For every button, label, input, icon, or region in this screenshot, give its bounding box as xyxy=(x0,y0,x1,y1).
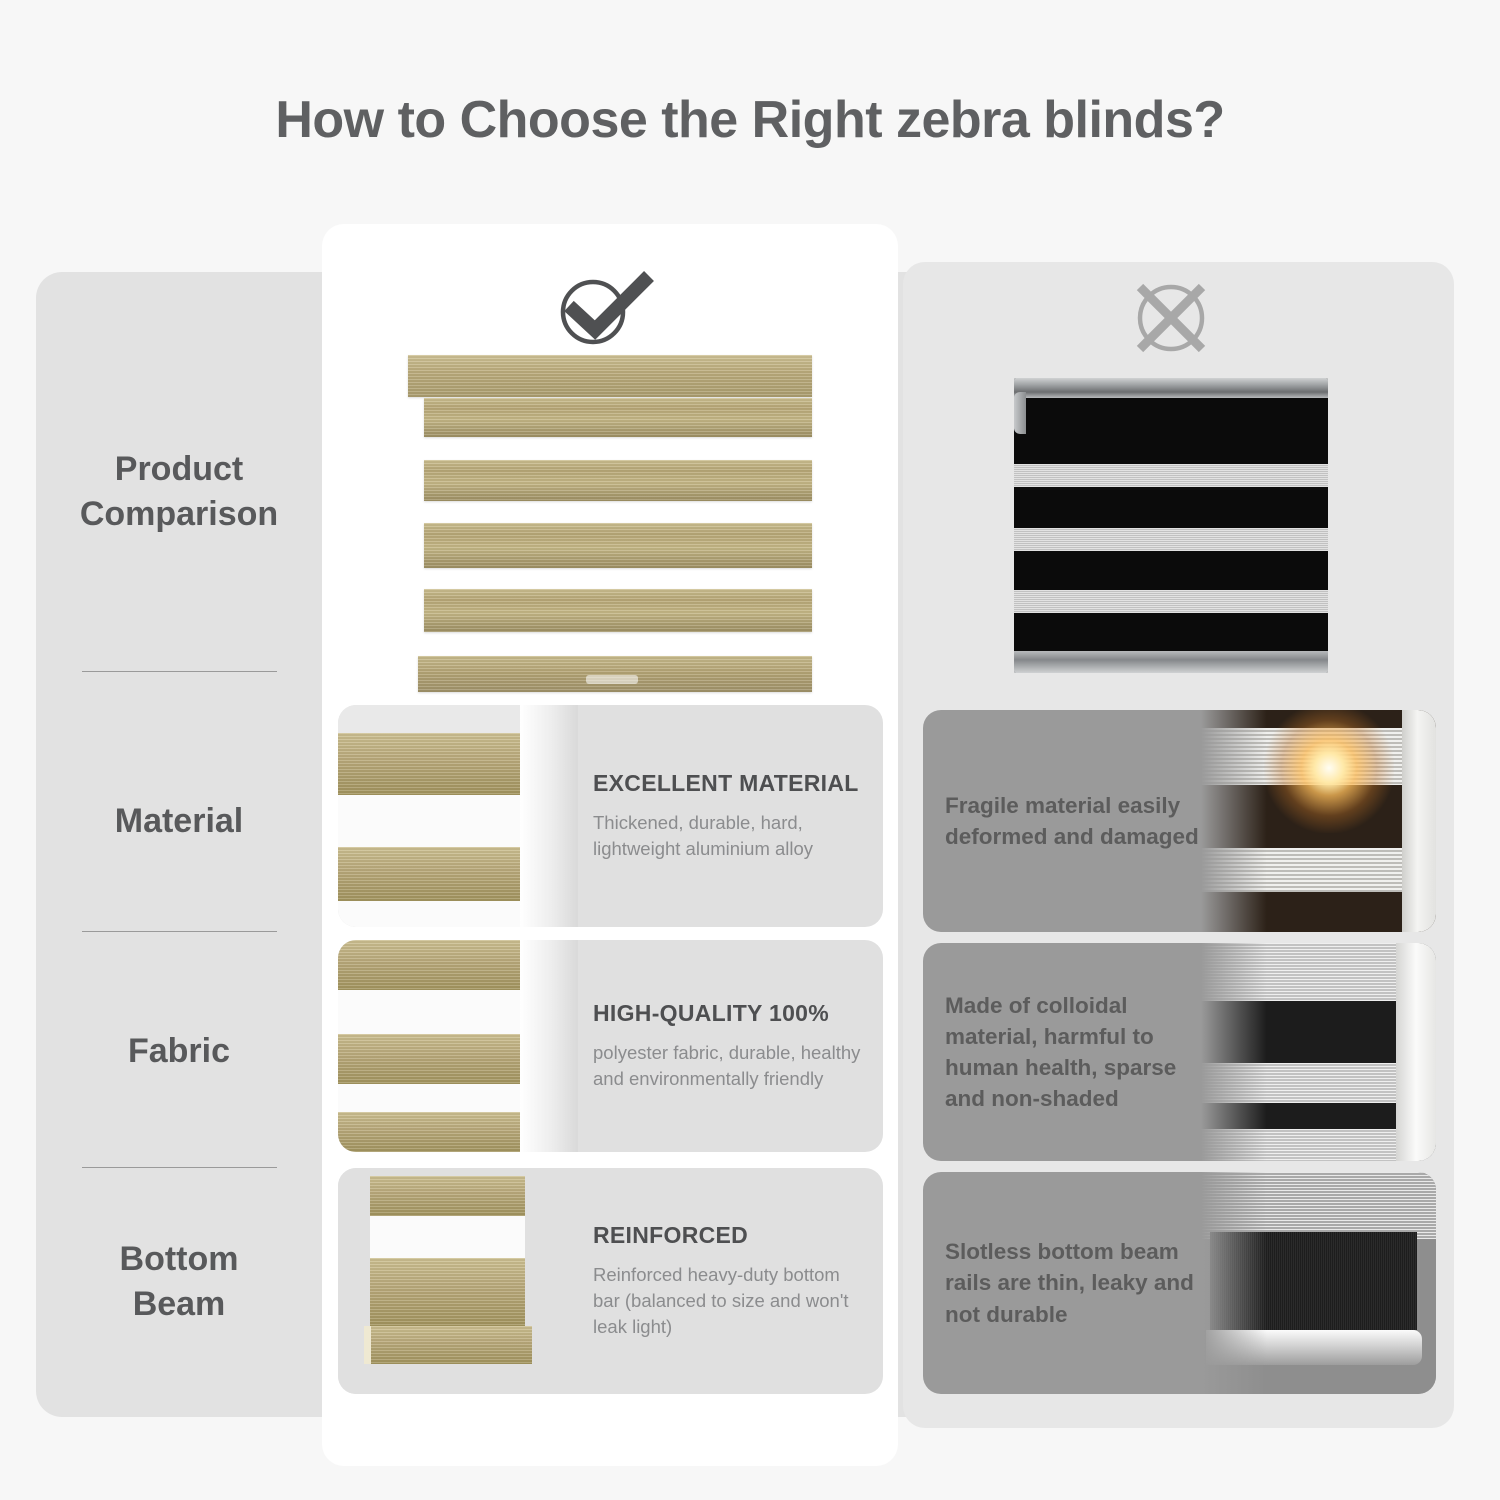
good-feature-image-bottom-beam xyxy=(338,1168,578,1394)
good-feature-text-bottom-beam: REINFORCED Reinforced heavy-duty bottom … xyxy=(593,1168,865,1394)
good-feature-image-fabric xyxy=(338,940,578,1152)
row-label-material: Material xyxy=(36,799,322,844)
row-label-line1: Product xyxy=(36,447,322,492)
bad-feature-text-fabric: Made of colloidal material, harmful to h… xyxy=(945,943,1215,1161)
feature-description: polyester fabric, durable, healthy and e… xyxy=(593,1040,865,1093)
bad-feature-image-bottom-beam xyxy=(1201,1172,1436,1394)
bad-feature-card-material: Fragile material easily deformed and dam… xyxy=(923,710,1436,932)
bad-feature-card-fabric: Made of colloidal material, harmful to h… xyxy=(923,943,1436,1161)
blind-headrail xyxy=(1014,378,1328,398)
bad-hero-blind-image xyxy=(1014,378,1328,673)
blind-slat xyxy=(424,460,812,501)
good-feature-text-material: EXCELLENT MATERIAL Thickened, durable, h… xyxy=(593,705,865,927)
feature-title: HIGH-QUALITY 100% xyxy=(593,1000,865,1027)
row-divider-2 xyxy=(82,931,277,932)
page-title: How to Choose the Right zebra blinds? xyxy=(0,90,1500,150)
good-feature-card-material: EXCELLENT MATERIAL Thickened, durable, h… xyxy=(338,705,883,927)
blind-bottom-rail xyxy=(1014,651,1328,673)
bad-feature-card-bottom-beam: Slotless bottom beam rails are thin, lea… xyxy=(923,1172,1436,1394)
bad-feature-text-bottom-beam: Slotless bottom beam rails are thin, lea… xyxy=(945,1172,1215,1394)
blind-bottom-grip xyxy=(586,675,638,684)
row-label-line1: Material xyxy=(36,799,322,844)
feature-title: EXCELLENT MATERIAL xyxy=(593,770,865,797)
good-hero-blind-image xyxy=(408,355,812,695)
row-label-line2: Beam xyxy=(36,1282,322,1327)
feature-title: REINFORCED xyxy=(593,1222,865,1249)
row-label-line1: Fabric xyxy=(36,1029,322,1074)
feature-description: Reinforced heavy-duty bottom bar (balanc… xyxy=(593,1262,865,1341)
blind-sheer-stripe xyxy=(1014,464,1328,487)
bad-feature-image-fabric xyxy=(1201,943,1436,1161)
row-divider-3 xyxy=(82,1167,277,1168)
check-circle-icon xyxy=(545,262,657,355)
blind-slat xyxy=(424,398,812,437)
good-feature-card-bottom-beam: REINFORCED Reinforced heavy-duty bottom … xyxy=(338,1168,883,1394)
good-feature-card-fabric: HIGH-QUALITY 100% polyester fabric, dura… xyxy=(338,940,883,1152)
blind-endcap xyxy=(1014,392,1026,434)
good-feature-text-fabric: HIGH-QUALITY 100% polyester fabric, dura… xyxy=(593,940,865,1152)
bad-feature-text-material: Fragile material easily deformed and dam… xyxy=(945,710,1215,932)
row-label-line2: Comparison xyxy=(36,492,322,537)
good-feature-image-material xyxy=(338,705,578,927)
row-label-product-comparison: Product Comparison xyxy=(36,447,322,537)
blind-slat xyxy=(424,589,812,632)
blind-slat xyxy=(424,523,812,568)
row-label-bottom-beam: Bottom Beam xyxy=(36,1237,322,1327)
blind-bottom-bar xyxy=(418,656,812,692)
feature-description: Thickened, durable, hard, lightweight al… xyxy=(593,810,865,863)
cross-circle-icon xyxy=(1123,278,1219,363)
blind-sheer-stripe xyxy=(1014,528,1328,551)
bad-feature-image-material xyxy=(1201,710,1436,932)
blind-valance xyxy=(408,355,812,397)
row-divider-1 xyxy=(82,671,277,672)
row-label-column: Product Comparison Material Fabric Botto… xyxy=(36,272,322,1417)
row-label-line1: Bottom xyxy=(36,1237,322,1282)
row-label-fabric: Fabric xyxy=(36,1029,322,1074)
blind-sheer-stripe xyxy=(1014,590,1328,613)
